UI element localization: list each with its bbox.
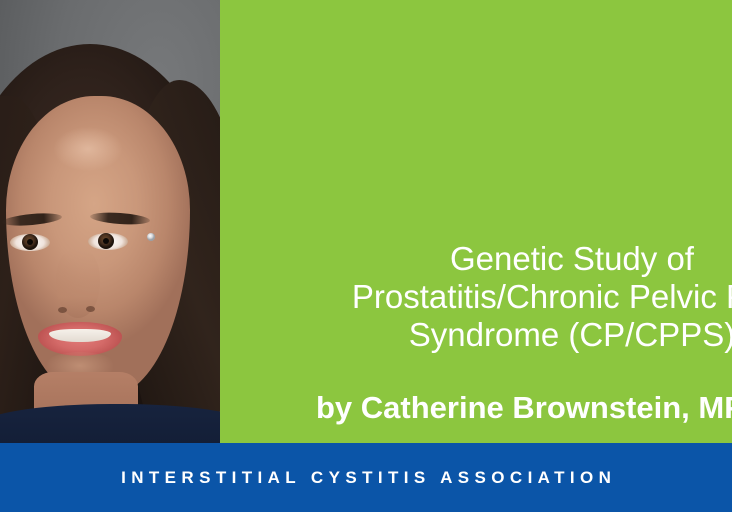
title-line-1: Genetic Study of: [316, 240, 732, 278]
byline-text: by Catherine Brownstein, MPH, PhD: [316, 390, 732, 425]
content-panel: ica Genetic Study of Prostatitis/Chronic…: [220, 0, 732, 443]
earring-icon: [147, 233, 155, 241]
organization-name: INTERSTITIAL CYSTITIS ASSOCIATION: [0, 443, 732, 512]
nostril-right: [86, 306, 95, 312]
forehead-highlight: [40, 118, 136, 180]
slide-title: Genetic Study of Prostatitis/Chronic Pel…: [220, 240, 732, 354]
speaker-photo: [0, 0, 220, 443]
nostril-left: [58, 307, 67, 313]
title-line-2: Prostatitis/Chronic Pelvic Pain: [316, 278, 732, 316]
pupil-right: [103, 238, 109, 244]
presentation-slide: ica Genetic Study of Prostatitis/Chronic…: [0, 0, 732, 512]
shirt-shape: [0, 404, 220, 443]
title-line-3: Syndrome (CP/CPPS): [316, 316, 732, 354]
footer-banner: INTERSTITIAL CYSTITIS ASSOCIATION: [0, 443, 732, 512]
pupil-left: [27, 239, 33, 245]
slide-byline: by Catherine Brownstein, MPH, PhD: [220, 389, 732, 427]
